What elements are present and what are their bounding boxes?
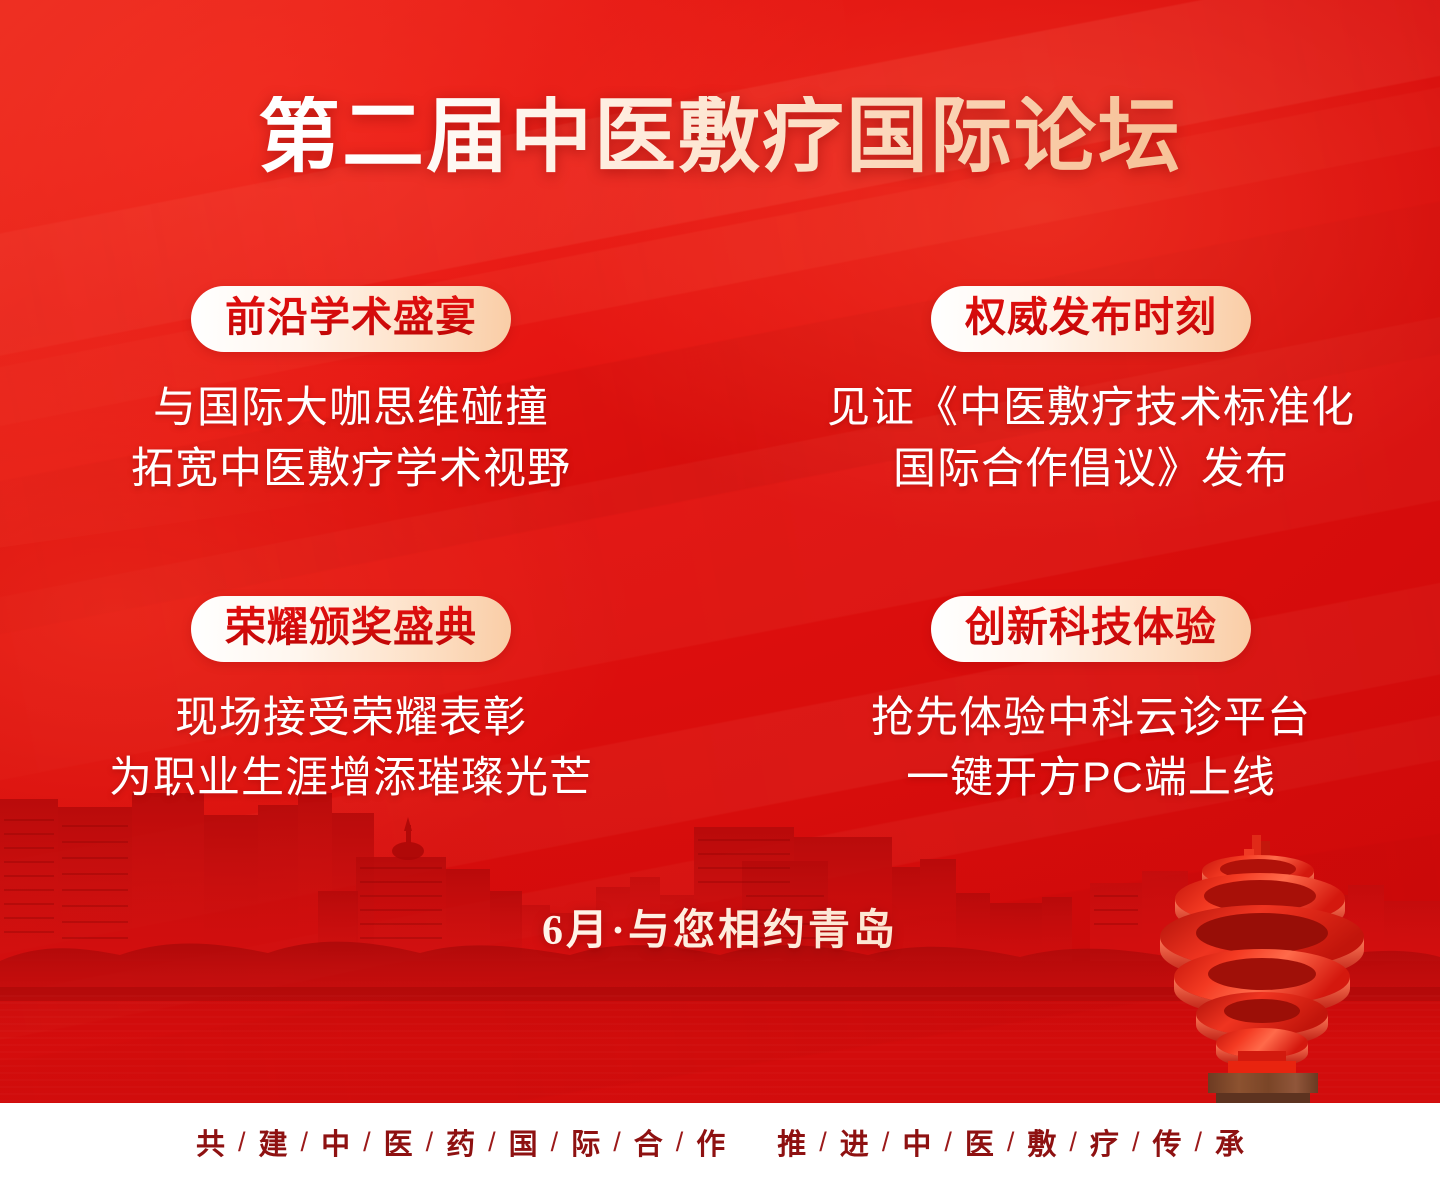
highlight-card-2: 权威发布时刻 见证《中医敷疗技术标准化 国际合作倡议》发布 (720, 286, 1440, 499)
highlight-badge-label-2: 权威发布时刻 (965, 294, 1217, 340)
page-title: 第二届中医敷疗国际论坛 (0, 96, 1440, 178)
highlight-text-3: 现场接受荣耀表彰 为职业生涯增添璀璨光芒 (109, 688, 593, 808)
footer-slogan-char: 共 (185, 1121, 236, 1163)
footer-slogan-separator: / (942, 1127, 954, 1158)
highlight-line-2b: 国际合作倡议》发布 (827, 439, 1355, 499)
footer-slogan-separator: / (1067, 1127, 1079, 1158)
footer-slogan-char: 敷 (1016, 1121, 1067, 1163)
footer-slogan-separator: / (424, 1127, 436, 1158)
highlights-grid: 前沿学术盛宴 与国际大咖思维碰撞 拓宽中医敷疗学术视野 权威发布时刻 见证《中医… (0, 286, 1440, 809)
footer-slogan-char: 疗 (1079, 1121, 1130, 1163)
footer-slogan-char: 合 (623, 1121, 674, 1163)
footer-slogan-separator: / (880, 1127, 892, 1158)
highlight-text-2: 见证《中医敷疗技术标准化 国际合作倡议》发布 (827, 378, 1355, 498)
footer-slogan-group-2: 推/进/中/医/敷/疗/传/承 (766, 1121, 1255, 1163)
highlight-badge-2: 权威发布时刻 (931, 286, 1251, 352)
highlight-badge-label-1: 前沿学术盛宴 (225, 294, 477, 340)
footer-slogan-separator: / (299, 1127, 311, 1158)
highlight-badge-4: 创新科技体验 (931, 596, 1251, 662)
footer-slogan-char: 际 (560, 1121, 611, 1163)
footer-slogan-separator: / (674, 1127, 686, 1158)
highlight-card-3: 荣耀颁奖盛典 现场接受荣耀表彰 为职业生涯增添璀璨光芒 (0, 596, 720, 809)
highlight-text-1: 与国际大咖思维碰撞 拓宽中医敷疗学术视野 (131, 378, 571, 498)
footer-slogan-group-1: 共/建/中/医/药/国/际/合/作 (185, 1121, 736, 1163)
highlight-badge-1: 前沿学术盛宴 (191, 286, 511, 352)
footer-slogan-separator: / (611, 1127, 623, 1158)
poster-canvas: 第二届中医敷疗国际论坛 前沿学术盛宴 与国际大咖思维碰撞 拓宽中医敷疗学术视野 … (0, 0, 1440, 1181)
footer-slogan-char: 传 (1141, 1121, 1192, 1163)
highlight-line-4b: 一键开方PC端上线 (871, 748, 1311, 808)
highlight-line-4a: 抢先体验中科云诊平台 (871, 688, 1311, 748)
footer-slogan-char: 中 (310, 1121, 361, 1163)
footer-slogan-separator: / (549, 1127, 561, 1158)
footer-slogan-separator: / (817, 1127, 829, 1158)
highlight-line-2a: 见证《中医敷疗技术标准化 (827, 378, 1355, 438)
highlight-line-3a: 现场接受荣耀表彰 (109, 688, 593, 748)
footer-slogan-char: 药 (435, 1121, 486, 1163)
footer-slogan-separator: / (1130, 1127, 1142, 1158)
footer-slogan-separator: / (1005, 1127, 1017, 1158)
highlight-badge-label-3: 荣耀颁奖盛典 (225, 604, 477, 650)
highlight-card-1: 前沿学术盛宴 与国际大咖思维碰撞 拓宽中医敷疗学术视野 (0, 286, 720, 499)
footer-slogan-char: 进 (829, 1121, 880, 1163)
footer-slogan-char: 承 (1204, 1121, 1255, 1163)
footer-slogan-char: 推 (766, 1121, 817, 1163)
footer-slogan-char: 作 (685, 1121, 736, 1163)
footer-slogan-char: 中 (891, 1121, 942, 1163)
footer-slogan-char: 医 (954, 1121, 1005, 1163)
highlight-line-1b: 拓宽中医敷疗学术视野 (131, 439, 571, 499)
footer-slogan-separator: / (486, 1127, 498, 1158)
footer-slogan: 共/建/中/医/药/国/际/合/作 推/进/中/医/敷/疗/传/承 (185, 1121, 1255, 1163)
highlight-badge-3: 荣耀颁奖盛典 (191, 596, 511, 662)
footer-slogan-separator: / (1192, 1127, 1204, 1158)
footer-slogan-separator: / (361, 1127, 373, 1158)
footer-slogan-char: 建 (248, 1121, 299, 1163)
footer-slogan-separator: / (236, 1127, 248, 1158)
highlight-badge-label-4: 创新科技体验 (965, 604, 1217, 650)
highlight-line-1a: 与国际大咖思维碰撞 (131, 378, 571, 438)
highlight-text-4: 抢先体验中科云诊平台 一键开方PC端上线 (871, 688, 1311, 808)
footer-slogan-char: 国 (498, 1121, 549, 1163)
event-date-location: 6月·与您相约青岛 (0, 896, 1440, 957)
highlight-card-4: 创新科技体验 抢先体验中科云诊平台 一键开方PC端上线 (720, 596, 1440, 809)
footer-slogan-bar: 共/建/中/医/药/国/际/合/作 推/进/中/医/敷/疗/传/承 (0, 1103, 1440, 1181)
poster-content: 第二届中医敷疗国际论坛 前沿学术盛宴 与国际大咖思维碰撞 拓宽中医敷疗学术视野 … (0, 0, 1440, 1181)
footer-slogan-char: 医 (373, 1121, 424, 1163)
highlight-line-3b: 为职业生涯增添璀璨光芒 (109, 748, 593, 808)
